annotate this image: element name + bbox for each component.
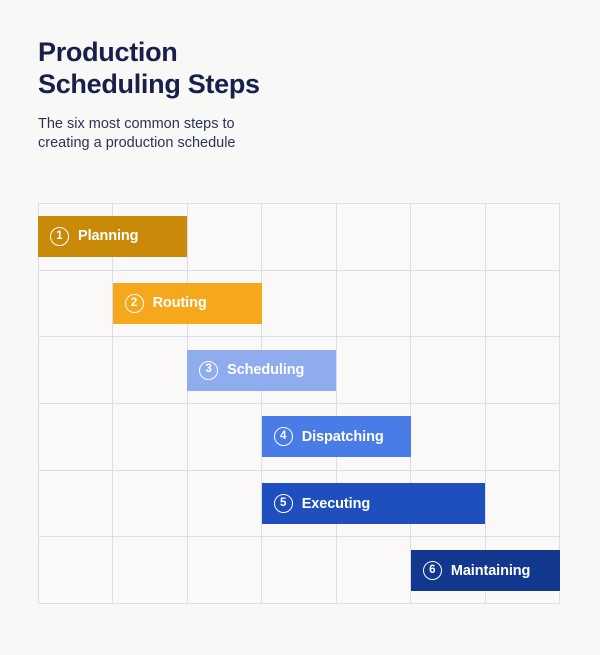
- step-label: Routing: [153, 295, 207, 311]
- gantt-bar-dispatching[interactable]: 4Dispatching: [262, 416, 411, 457]
- step-number-badge: 2: [125, 294, 144, 313]
- step-number-badge: 1: [50, 227, 69, 246]
- gantt-bar-maintaining[interactable]: 6Maintaining: [411, 550, 560, 591]
- gantt-bar-scheduling[interactable]: 3Scheduling: [187, 350, 336, 391]
- step-label: Executing: [302, 496, 370, 512]
- step-number-badge: 4: [274, 427, 293, 446]
- step-number-badge: 6: [423, 561, 442, 580]
- infographic-canvas: Production Scheduling Steps The six most…: [0, 0, 600, 655]
- step-label: Dispatching: [302, 429, 384, 445]
- chart-bars: 1Planning2Routing3Scheduling4Dispatching…: [38, 203, 560, 604]
- gantt-chart: 1Planning2Routing3Scheduling4Dispatching…: [38, 203, 560, 604]
- gantt-bar-planning[interactable]: 1Planning: [38, 216, 187, 257]
- step-label: Maintaining: [451, 563, 530, 579]
- header: Production Scheduling Steps The six most…: [38, 36, 368, 154]
- gantt-bar-executing[interactable]: 5Executing: [262, 483, 486, 524]
- page-title: Production Scheduling Steps: [38, 36, 368, 101]
- step-number-badge: 5: [274, 494, 293, 513]
- step-number-badge: 3: [199, 361, 218, 380]
- page-subtitle: The six most common steps to creating a …: [38, 115, 368, 154]
- step-label: Planning: [78, 228, 138, 244]
- gantt-bar-routing[interactable]: 2Routing: [113, 283, 262, 324]
- step-label: Scheduling: [227, 362, 304, 378]
